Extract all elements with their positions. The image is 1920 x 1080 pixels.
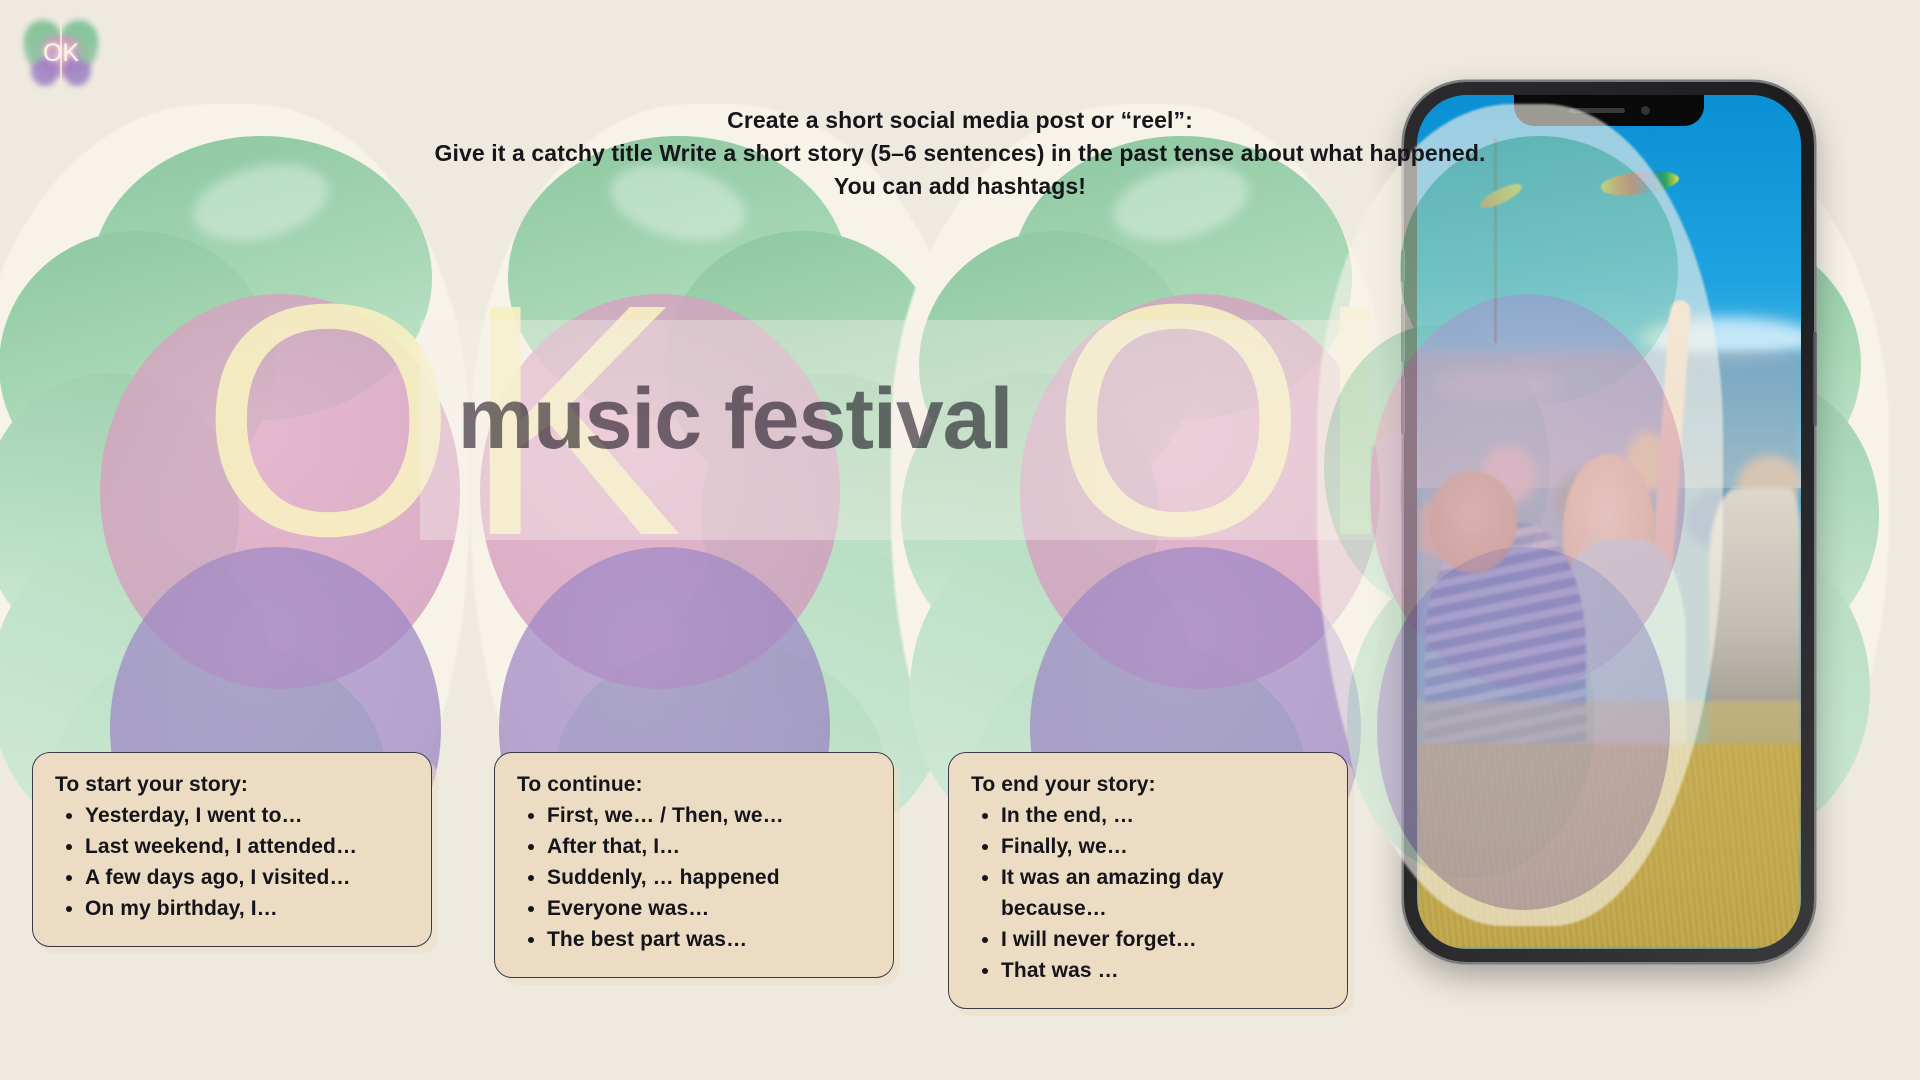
list-item: That was …: [1001, 955, 1325, 986]
list-item: A few days ago, I visited…: [85, 862, 409, 893]
card-list: In the end, … Finally, we… It was an ama…: [1001, 800, 1325, 986]
festival-photo: [1417, 95, 1801, 949]
card-heading: To end your story:: [971, 773, 1325, 797]
card-list: First, we… / Then, we… After that, I… Su…: [547, 800, 871, 955]
phone-mockup: [1404, 82, 1814, 962]
prompt-card-end: To end your story: In the end, … Finally…: [948, 752, 1348, 1009]
phone-screen[interactable]: [1417, 95, 1801, 949]
list-item: On my birthday, I…: [85, 893, 409, 924]
silent-switch-button[interactable]: [1401, 250, 1405, 282]
volume-down-button[interactable]: [1401, 376, 1405, 434]
list-item: Last weekend, I attended…: [85, 831, 409, 862]
power-button[interactable]: [1813, 332, 1817, 426]
list-item: The best part was…: [547, 924, 871, 955]
list-item: Finally, we…: [1001, 831, 1325, 862]
list-item: After that, I…: [547, 831, 871, 862]
list-item: In the end, …: [1001, 800, 1325, 831]
card-heading: To continue:: [517, 773, 871, 797]
straw-hat: [1429, 471, 1517, 573]
list-item: Suddenly, … happened: [547, 862, 871, 893]
logo-label: OK: [22, 14, 100, 92]
heading-line-2: Give it a catchy title Write a short sto…: [200, 137, 1720, 170]
card-list: Yesterday, I went to… Last weekend, I at…: [85, 800, 409, 924]
instruction-heading: Create a short social media post or “ree…: [0, 104, 1920, 203]
list-item: First, we… / Then, we…: [547, 800, 871, 831]
heading-line-1: Create a short social media post or “ree…: [200, 104, 1720, 137]
prompt-card-continue: To continue: First, we… / Then, we… Afte…: [494, 752, 894, 978]
list-item: I will never forget…: [1001, 924, 1325, 955]
volume-up-button[interactable]: [1401, 304, 1405, 362]
grass-foreground: [1417, 744, 1801, 949]
card-heading: To start your story:: [55, 773, 409, 797]
brain-logo-icon[interactable]: OK: [22, 14, 100, 92]
list-item: It was an amazing day because…: [1001, 862, 1325, 924]
prompt-card-start: To start your story: Yesterday, I went t…: [32, 752, 432, 947]
list-item: Everyone was…: [547, 893, 871, 924]
slide-canvas: OK OK OK Create a short social media pos…: [0, 0, 1920, 1080]
heading-line-3: You can add hashtags!: [200, 170, 1720, 203]
list-item: Yesterday, I went to…: [85, 800, 409, 831]
